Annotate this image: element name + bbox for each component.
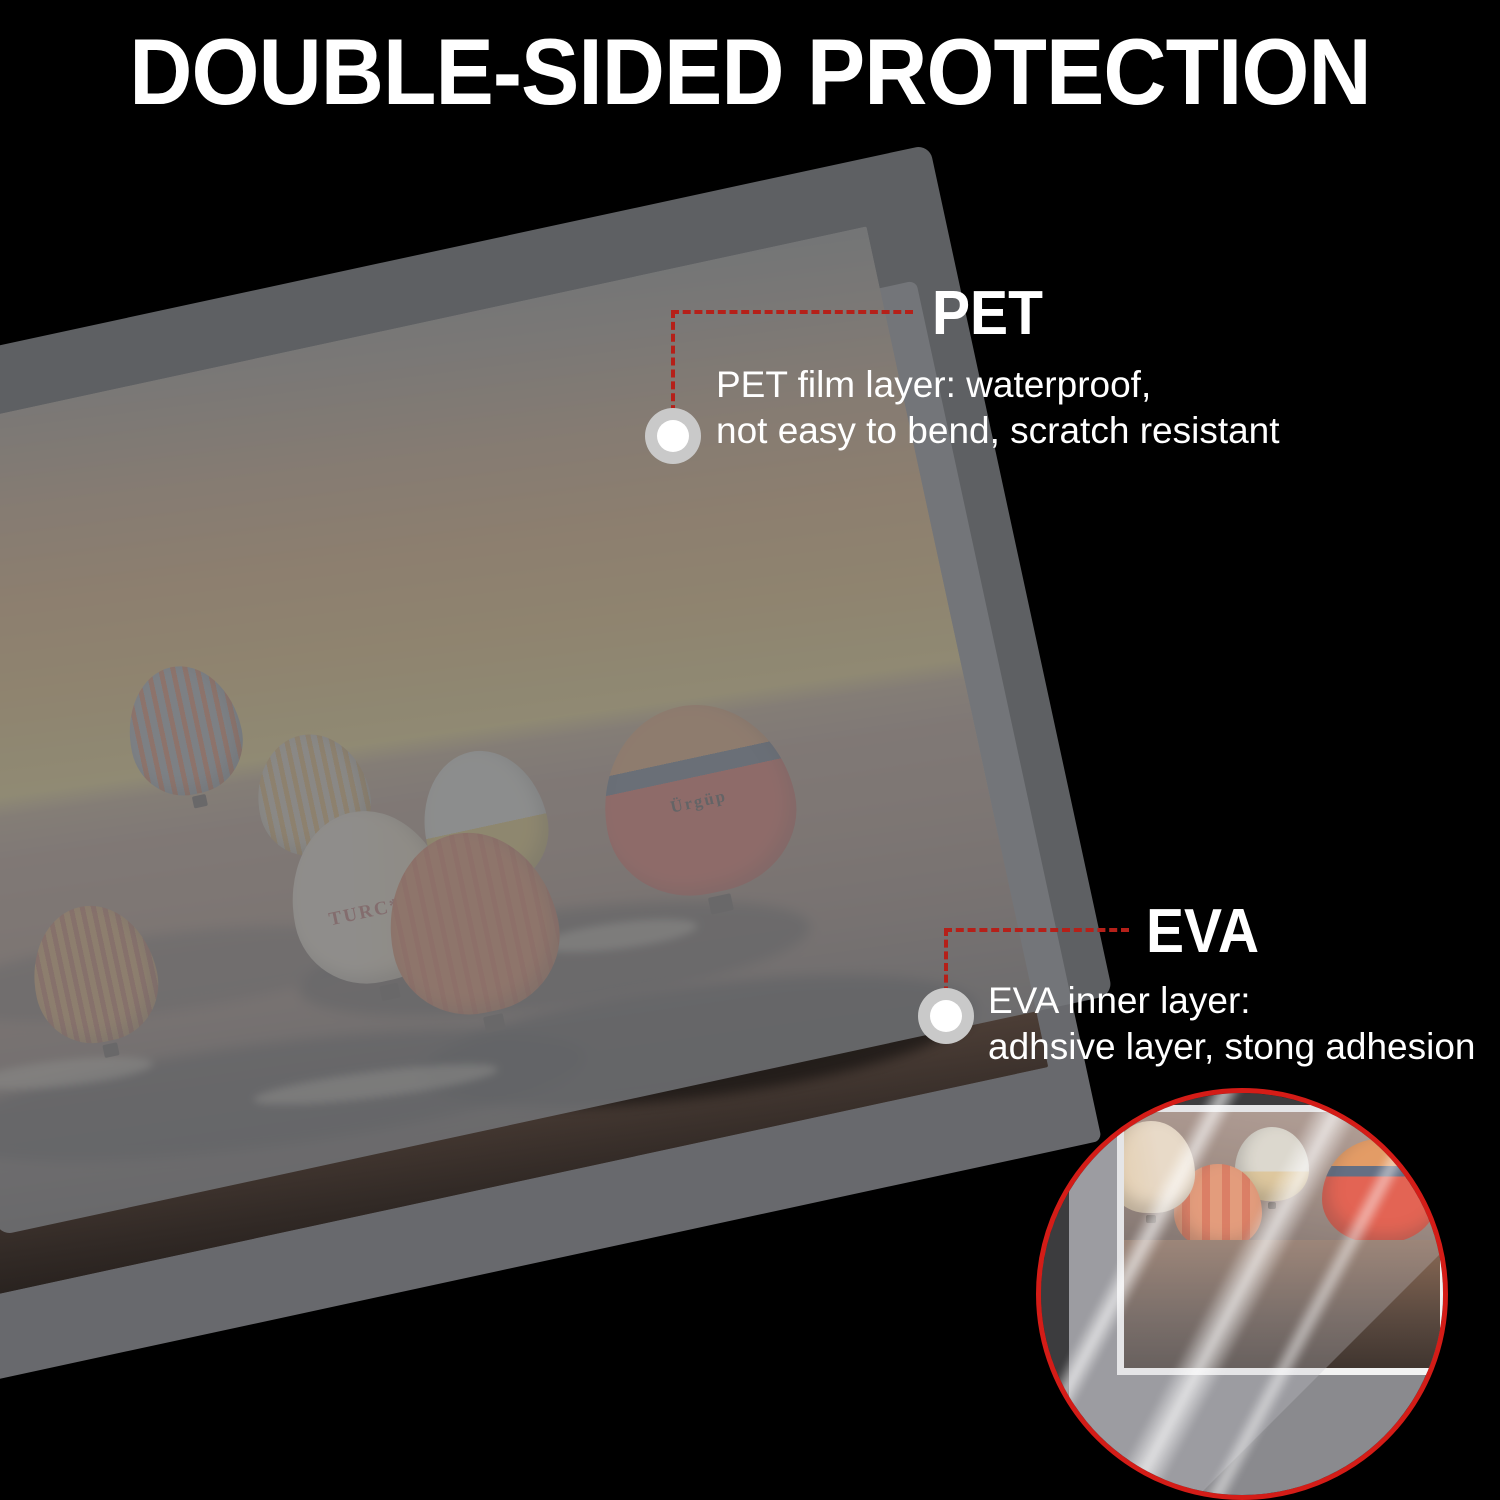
eva-callout-title: EVA — [1146, 896, 1259, 967]
pet-callout-description: PET film layer: waterproof, not easy to … — [716, 362, 1280, 454]
pet-description-line-2: not easy to bend, scratch resistant — [716, 408, 1280, 454]
pet-callout-dot — [645, 408, 701, 464]
pet-callout-title: PET — [932, 278, 1043, 349]
eva-description-line-1: EVA inner layer: — [988, 978, 1476, 1024]
eva-callout-dot — [918, 988, 974, 1044]
eva-description-line-2: adhsive layer, stong adhesion — [988, 1024, 1476, 1070]
eva-callout-description: EVA inner layer: adhsive layer, stong ad… — [988, 978, 1476, 1070]
eva-leader-line-horizontal — [944, 928, 1129, 932]
magnifier-detail-circle — [1036, 1088, 1448, 1500]
page-title: DOUBLE-SIDED PROTECTION — [53, 18, 1448, 126]
pet-description-line-1: PET film layer: waterproof, — [716, 362, 1280, 408]
infographic-canvas: DOUBLE-SIDED PROTECTION — [0, 0, 1500, 1500]
pet-leader-line-horizontal — [671, 310, 913, 314]
